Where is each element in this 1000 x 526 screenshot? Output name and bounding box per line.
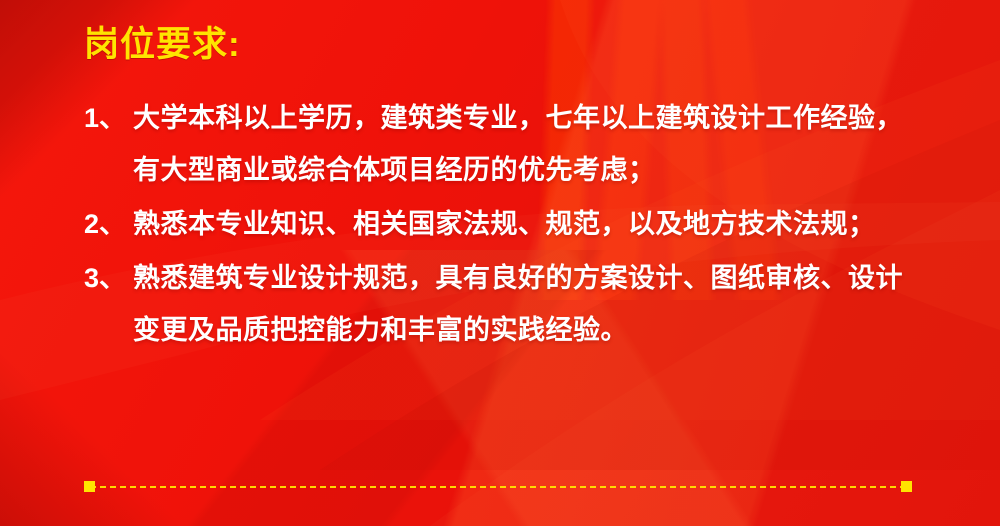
list-item-text: 熟悉建筑专业设计规范，具有良好的方案设计、图纸审核、设计变更及品质把控能力和丰富… (133, 252, 929, 356)
job-requirements-poster: 岗位要求: 1、 大学本科以上学历，建筑类专业，七年以上建筑设计工作经验，有大型… (0, 0, 1000, 526)
list-item: 3、 熟悉建筑专业设计规范，具有良好的方案设计、图纸审核、设计变更及品质把控能力… (84, 252, 929, 356)
list-item: 2、 熟悉本专业知识、相关国家法规、规范，以及地方技术法规； (84, 198, 929, 250)
requirements-list: 1、 大学本科以上学历，建筑类专业，七年以上建筑设计工作经验，有大型商业或综合体… (84, 92, 929, 358)
list-item-marker: 1、 (84, 92, 133, 144)
list-item-text: 熟悉本专业知识、相关国家法规、规范，以及地方技术法规； (133, 198, 929, 250)
list-item-marker: 3、 (84, 252, 133, 304)
list-item-text: 大学本科以上学历，建筑类专业，七年以上建筑设计工作经验，有大型商业或综合体项目经… (133, 92, 929, 196)
list-item-marker: 2、 (84, 198, 133, 250)
list-item: 1、 大学本科以上学历，建筑类专业，七年以上建筑设计工作经验，有大型商业或综合体… (84, 92, 929, 196)
divider-right-square-icon (901, 481, 912, 492)
poster-content: 岗位要求: 1、 大学本科以上学历，建筑类专业，七年以上建筑设计工作经验，有大型… (0, 0, 1000, 526)
page-title: 岗位要求: (84, 16, 241, 67)
divider-dashed-line (90, 486, 906, 488)
bottom-divider (84, 481, 912, 493)
